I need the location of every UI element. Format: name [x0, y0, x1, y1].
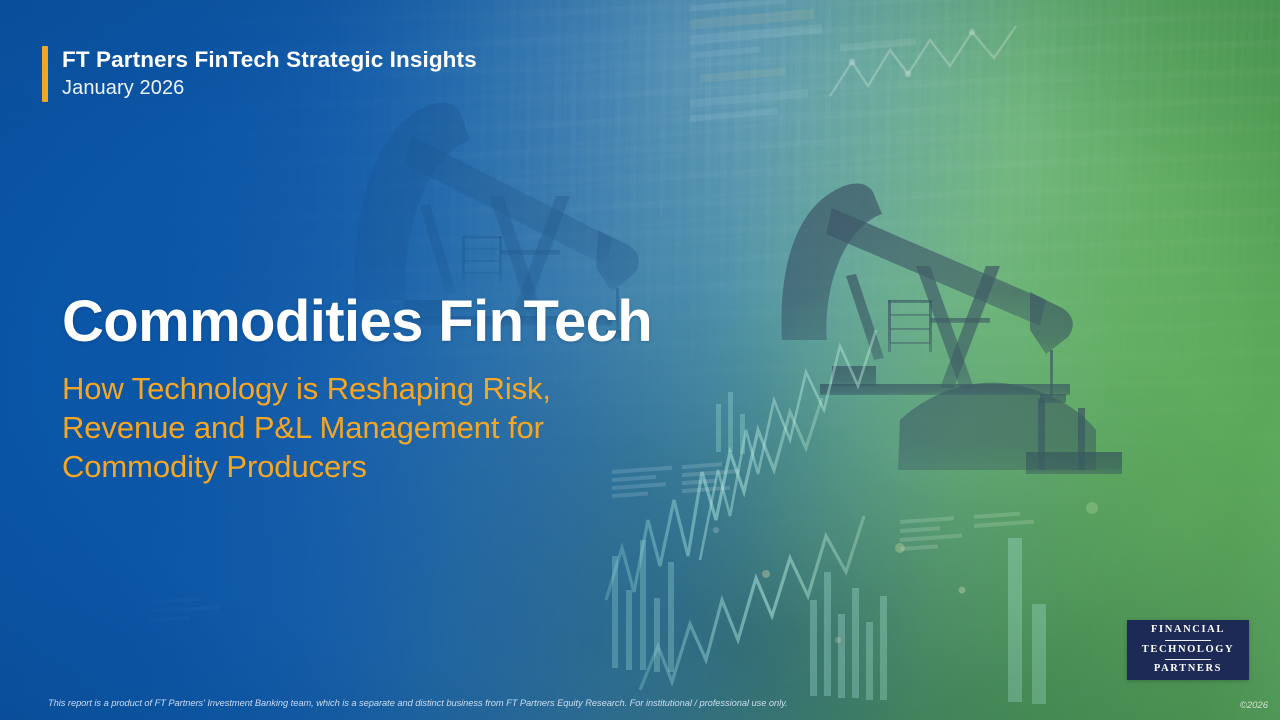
background-sparkline [830, 26, 1016, 96]
title-block: Commodities FinTech How Technology is Re… [62, 292, 652, 487]
subtitle-line-2: Revenue and P&L Management for [62, 409, 592, 448]
page-subtitle: How Technology is Reshaping Risk, Revenu… [62, 370, 592, 486]
logo-divider-top [1165, 640, 1211, 641]
subtitle-line-1: How Technology is Reshaping Risk, [62, 370, 592, 409]
pumpjack-silhouette-right [781, 183, 1122, 474]
header-accent-bar [42, 46, 48, 102]
logo-line-technology: TECHNOLOGY [1142, 645, 1234, 656]
logo-line-partners: PARTNERS [1154, 664, 1222, 675]
header-text-group: FT Partners FinTech Strategic Insights J… [62, 46, 477, 102]
slide-header: FT Partners FinTech Strategic Insights J… [42, 46, 477, 102]
footer-disclaimer: This report is a product of FT Partners'… [48, 698, 788, 708]
ft-partners-logo: FINANCIAL TECHNOLOGY PARTNERS [1127, 620, 1249, 680]
background-chart-line-accent [700, 330, 876, 560]
presentation-slide: FT Partners FinTech Strategic Insights J… [0, 0, 1280, 720]
subtitle-line-3: Commodity Producers [62, 448, 592, 487]
background-data-panels [690, 0, 932, 122]
footer-copyright: ©2026 [1240, 700, 1268, 711]
page-title: Commodities FinTech [62, 292, 652, 352]
logo-line-financial: FINANCIAL [1151, 625, 1225, 636]
header-title: FT Partners FinTech Strategic Insights [62, 46, 477, 75]
header-date: January 2026 [62, 75, 477, 102]
logo-divider-bottom [1165, 659, 1211, 660]
